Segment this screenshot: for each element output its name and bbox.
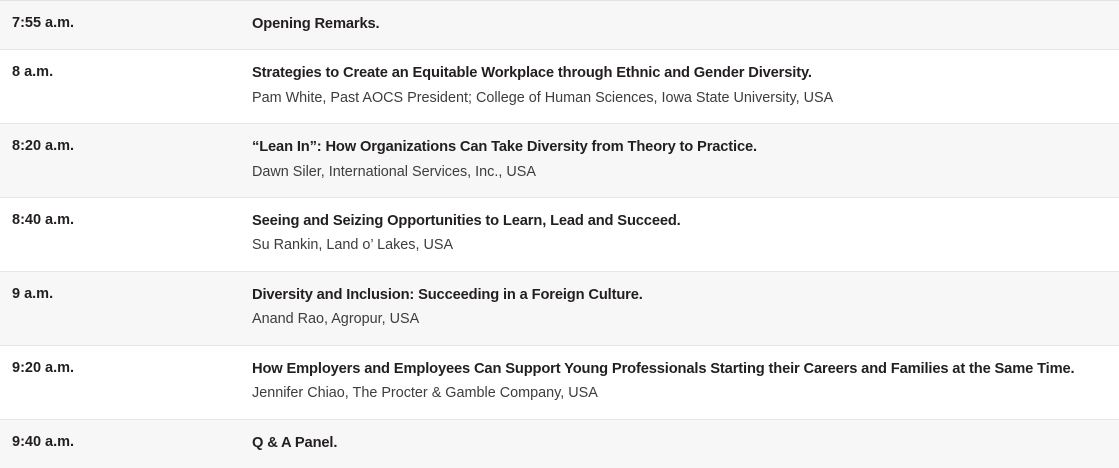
session-time-cell: 8 a.m. (0, 50, 252, 124)
session-time-cell: 8:20 a.m. (0, 124, 252, 198)
table-row: 9 a.m. Diversity and Inclusion: Succeedi… (0, 272, 1119, 346)
session-time-cell: 8:40 a.m. (0, 198, 252, 272)
table-row: 8:40 a.m. Seeing and Seizing Opportuniti… (0, 198, 1119, 272)
session-time-cell: 9:20 a.m. (0, 346, 252, 420)
session-title: How Employers and Employees Can Support … (252, 359, 1119, 380)
session-time: 9:20 a.m. (12, 360, 74, 376)
session-time: 7:55 a.m. (12, 15, 74, 31)
session-speaker: Anand Rao, Agropur, USA (252, 309, 1119, 331)
session-detail-cell: Strategies to Create an Equitable Workpl… (252, 50, 1119, 124)
session-title: Seeing and Seizing Opportunities to Lear… (252, 211, 1119, 232)
session-speaker: Pam White, Past AOCS President; College … (252, 88, 1119, 110)
session-title: “Lean In”: How Organizations Can Take Di… (252, 137, 1119, 158)
session-time: 9 a.m. (12, 286, 53, 302)
session-detail-cell: Seeing and Seizing Opportunities to Lear… (252, 198, 1119, 272)
session-time: 8:40 a.m. (12, 212, 74, 228)
session-speaker: Jennifer Chiao, The Procter & Gamble Com… (252, 383, 1119, 405)
session-title: Q & A Panel. (252, 433, 1119, 454)
session-detail-cell: How Employers and Employees Can Support … (252, 346, 1119, 420)
table-row: 7:55 a.m. Opening Remarks. (0, 1, 1119, 50)
table-row: 8:20 a.m. “Lean In”: How Organizations C… (0, 124, 1119, 198)
session-title: Diversity and Inclusion: Succeeding in a… (252, 285, 1119, 306)
session-title: Strategies to Create an Equitable Workpl… (252, 63, 1119, 84)
agenda-row-group: 7:55 a.m. Opening Remarks. 8 a.m. Strate… (0, 1, 1119, 468)
session-time: 8:20 a.m. (12, 138, 74, 154)
session-time: 9:40 a.m. (12, 434, 74, 450)
session-detail-cell: Diversity and Inclusion: Succeeding in a… (252, 272, 1119, 346)
session-speaker: Dawn Siler, International Services, Inc.… (252, 162, 1119, 184)
session-detail-cell: “Lean In”: How Organizations Can Take Di… (252, 124, 1119, 198)
session-time-cell: 9 a.m. (0, 272, 252, 346)
session-detail-cell: Opening Remarks. (252, 1, 1119, 50)
session-time: 8 a.m. (12, 64, 53, 80)
session-agenda-table: 7:55 a.m. Opening Remarks. 8 a.m. Strate… (0, 0, 1119, 468)
table-row: 8 a.m. Strategies to Create an Equitable… (0, 50, 1119, 124)
session-time-cell: 7:55 a.m. (0, 1, 252, 50)
session-title: Opening Remarks. (252, 14, 1119, 35)
table-row: 9:20 a.m. How Employers and Employees Ca… (0, 346, 1119, 420)
session-speaker: Su Rankin, Land o’ Lakes, USA (252, 235, 1119, 257)
